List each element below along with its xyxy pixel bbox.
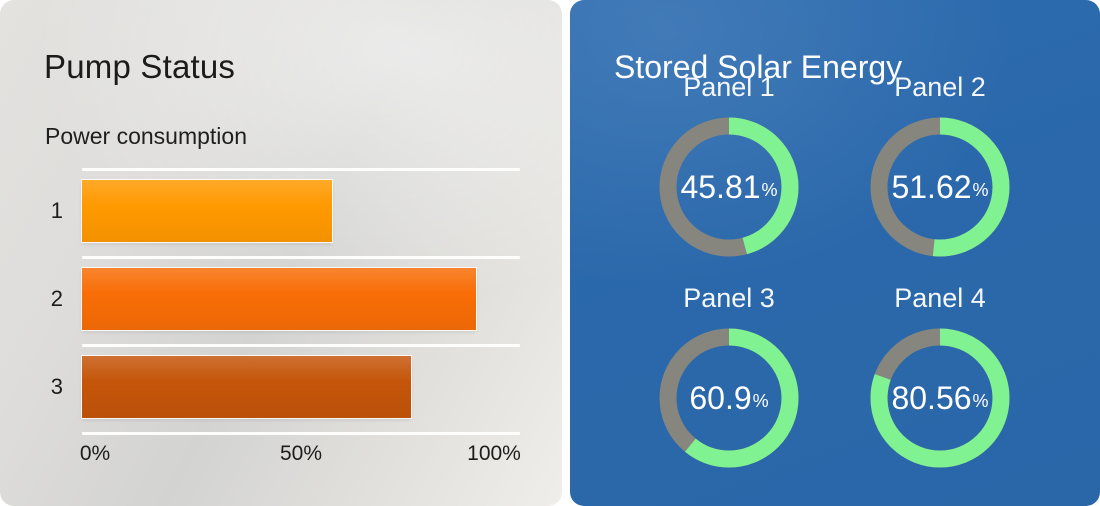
bar-track-2 [82,268,520,330]
bar-track-3 [82,356,520,418]
bar-fill-1[interactable] [82,180,332,242]
donut-ring-panel-1 [655,113,803,261]
x-tick-label-50: 50% [280,442,322,466]
gridline-top [82,168,520,171]
x-tick-label-100: 100% [467,442,521,466]
page-title: Pump Status [44,48,235,86]
gauge-panel-4[interactable]: Panel 4 80.56 % [823,283,1057,475]
donut-icon [655,113,803,261]
gauge-label-panel-3: Panel 3 [612,283,846,314]
gridline-2 [82,344,520,347]
stored-solar-energy-card: Stored Solar Energy Panel 1 45.81 % Pane… [570,0,1100,506]
donut-icon [655,324,803,472]
pump-status-card: Pump Status Power consumption 1 2 [0,0,562,506]
x-tick-label-0: 0% [80,442,110,466]
donut-ring-panel-2 [866,113,1014,261]
gauge-panel-2[interactable]: Panel 2 51.62 % [823,72,1057,264]
donut-icon [866,113,1014,261]
chart-subtitle: Power consumption [45,123,247,150]
bar-fill-3[interactable] [82,356,411,418]
donut-icon [866,324,1014,472]
table-row: 1 [0,180,562,242]
bar-fill-2[interactable] [82,268,476,330]
power-consumption-bar-chart: 1 2 3 0% 50% 100% [0,168,562,458]
x-axis-line [82,432,520,435]
table-row: 2 [0,268,562,330]
table-row: 3 [0,356,562,418]
gridline-1 [82,256,520,259]
gauge-label-panel-2: Panel 2 [823,72,1057,103]
gauge-panel-1[interactable]: Panel 1 45.81 % [612,72,846,264]
donut-ring-panel-3 [655,324,803,472]
bar-category-label-2: 2 [0,286,63,312]
donut-ring-panel-4 [866,324,1014,472]
dashboard: Pump Status Power consumption 1 2 [0,0,1100,506]
gauge-label-panel-4: Panel 4 [823,283,1057,314]
gauge-label-panel-1: Panel 1 [612,72,846,103]
bar-track-1 [82,180,520,242]
bar-category-label-1: 1 [0,198,63,224]
bar-category-label-3: 3 [0,374,63,400]
gauge-panel-3[interactable]: Panel 3 60.9 % [612,283,846,475]
